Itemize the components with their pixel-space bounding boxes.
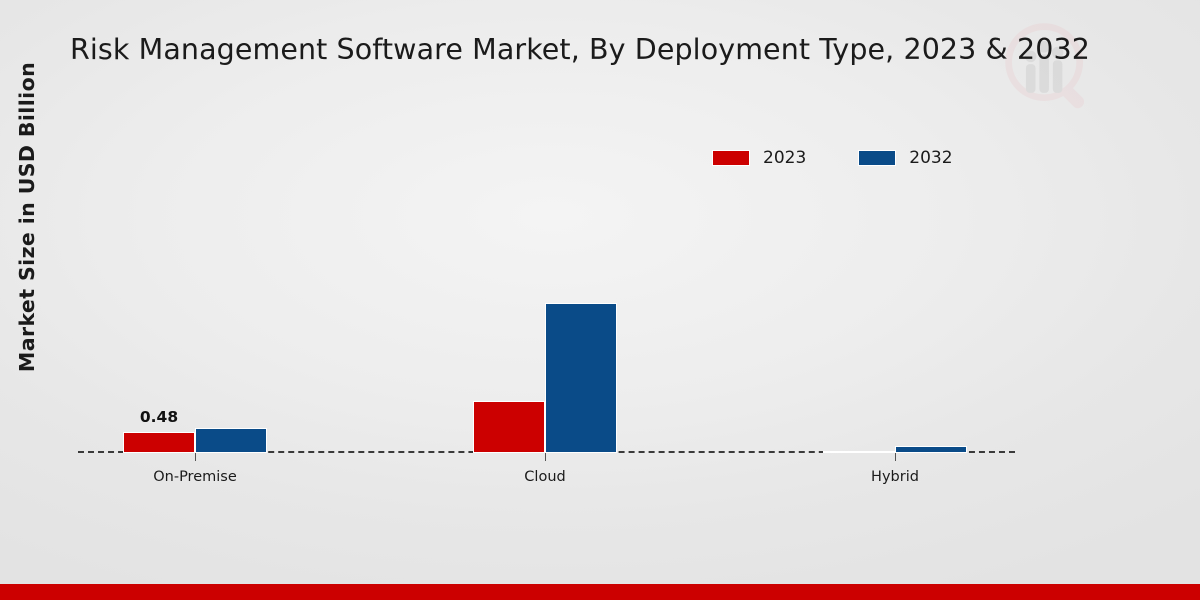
bar-hybrid-2032[interactable]: [895, 446, 967, 453]
plot-area: On-PremiseCloudHybrid0.48: [78, 110, 1015, 453]
footer-band: [0, 584, 1200, 600]
bar-cloud-2023[interactable]: [473, 401, 545, 453]
axis-tick: [545, 453, 546, 461]
axis-tick: [895, 453, 896, 461]
value-label: 0.48: [140, 408, 178, 426]
bar-on-premise-2032[interactable]: [195, 428, 267, 454]
axis-tick: [195, 453, 196, 461]
bar-group: Hybrid: [823, 110, 967, 453]
chart-figure: Risk Management Software Market, By Depl…: [0, 0, 1200, 600]
chart-title: Risk Management Software Market, By Depl…: [0, 33, 1160, 66]
y-axis-title: Market Size in USD Billion: [10, 57, 44, 377]
category-label-on-premise: On-Premise: [153, 469, 237, 485]
category-label-cloud: Cloud: [524, 469, 565, 485]
bar-on-premise-2023[interactable]: [123, 432, 195, 453]
bar-group: On-Premise: [123, 110, 267, 453]
bar-group: Cloud: [473, 110, 617, 453]
bar-pair: [123, 110, 267, 453]
bar-groups: On-PremiseCloudHybrid0.48: [78, 110, 1015, 453]
bar-pair: [473, 110, 617, 453]
category-label-hybrid: Hybrid: [871, 469, 919, 485]
y-axis-title-label: Market Size in USD Billion: [15, 62, 39, 372]
bar-pair: [823, 110, 967, 453]
bar-cloud-2032[interactable]: [545, 303, 617, 453]
bar-hybrid-2023[interactable]: [823, 451, 895, 453]
